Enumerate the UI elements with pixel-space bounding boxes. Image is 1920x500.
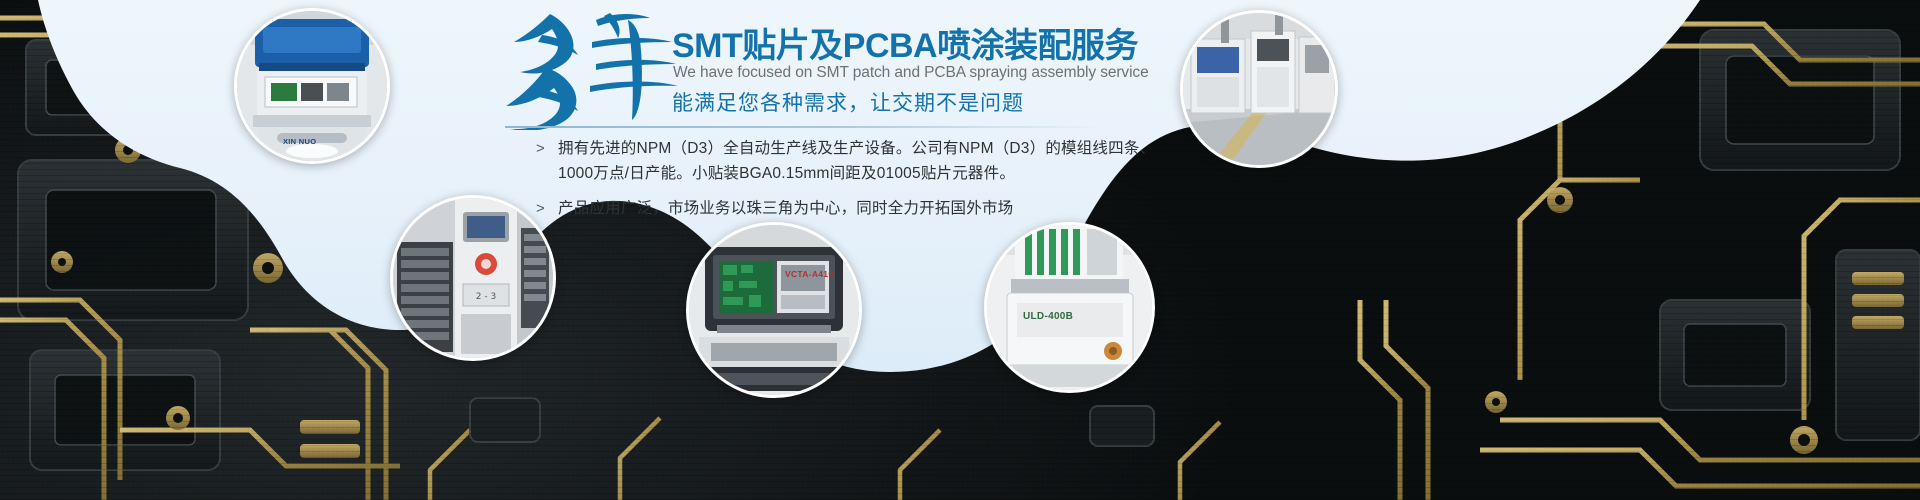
list-item-text: 拥有先进的NPM（D3）全自动生产线及生产设备。公司有NPM（D3）的模组线四条…: [558, 136, 1176, 186]
photo-caption: XIN NUO: [283, 137, 316, 146]
svg-text:2 - 3: 2 - 3: [476, 292, 496, 302]
photo-aoi-inspection: VCTA-A410: [686, 222, 862, 398]
list-item-text: 产品应用广泛，市场业务以珠三角为中心，同时全力开拓国外市场: [558, 196, 1013, 221]
photo-content: [689, 225, 859, 395]
photo-caption: ULD-400B: [1023, 311, 1073, 322]
promo-banner: SMT贴片及PCBA喷涂装配服务 We have focused on SMT …: [0, 0, 1920, 500]
list-item: > 拥有先进的NPM（D3）全自动生产线及生产设备。公司有NPM（D3）的模组线…: [536, 136, 1176, 186]
brush-calligraphy-duonian: [500, 8, 680, 130]
feature-bullet-list: > 拥有先进的NPM（D3）全自动生产线及生产设备。公司有NPM（D3）的模组线…: [536, 136, 1176, 231]
headline: SMT贴片及PCBA喷涂装配服务: [672, 26, 1138, 66]
photo-content: [987, 225, 1152, 390]
section-divider: [505, 126, 1105, 128]
subheadline-chinese: 能满足您各种需求，让交期不是问题: [672, 87, 1024, 117]
bullet-marker-icon: >: [536, 136, 558, 161]
photo-pick-and-place: 2 - 3: [390, 195, 556, 361]
photo-caption: VCTA-A410: [785, 269, 833, 279]
photo-content: [1183, 13, 1335, 165]
photo-magazine-loader: ULD-400B: [984, 222, 1155, 393]
photo-production-line: [1180, 10, 1338, 168]
subheadline-english: We have focused on SMT patch and PCBA sp…: [673, 64, 1149, 82]
photo-smt-printer: XIN NUO: [234, 8, 390, 164]
photo-content: 2 - 3: [393, 198, 553, 358]
list-item: > 产品应用广泛，市场业务以珠三角为中心，同时全力开拓国外市场: [536, 196, 1176, 221]
